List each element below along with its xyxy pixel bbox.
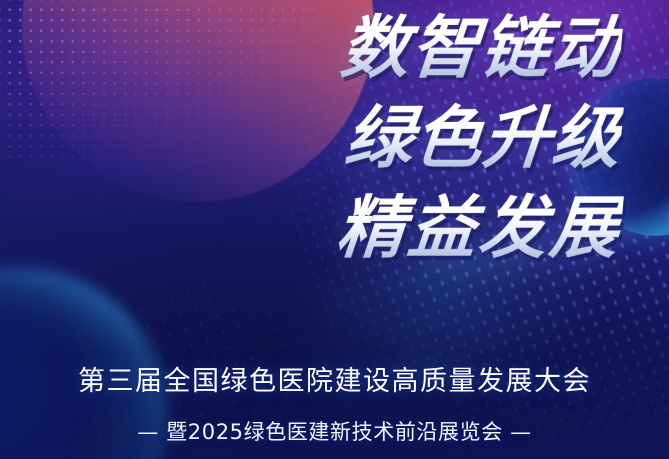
headline-line-2: 绿色升级 — [187, 94, 625, 184]
headline-block: 数智链动 绿色升级 精益发展 — [191, 4, 621, 274]
conference-title: 第三届全国绿色医院建设高质量发展大会 — [0, 363, 669, 401]
conference-poster: 数智链动 绿色升级 精益发展 第三届全国绿色医院建设高质量发展大会 — 暨202… — [0, 0, 669, 459]
headline-line-1: 数智链动 — [187, 4, 625, 94]
headline-line-3: 精益发展 — [187, 184, 625, 274]
subtitle-block: 第三届全国绿色医院建设高质量发展大会 — 暨2025绿色医建新技术前沿展览会 — — [0, 363, 669, 447]
exhibition-subtitle: — 暨2025绿色医建新技术前沿展览会 — — [0, 417, 669, 447]
